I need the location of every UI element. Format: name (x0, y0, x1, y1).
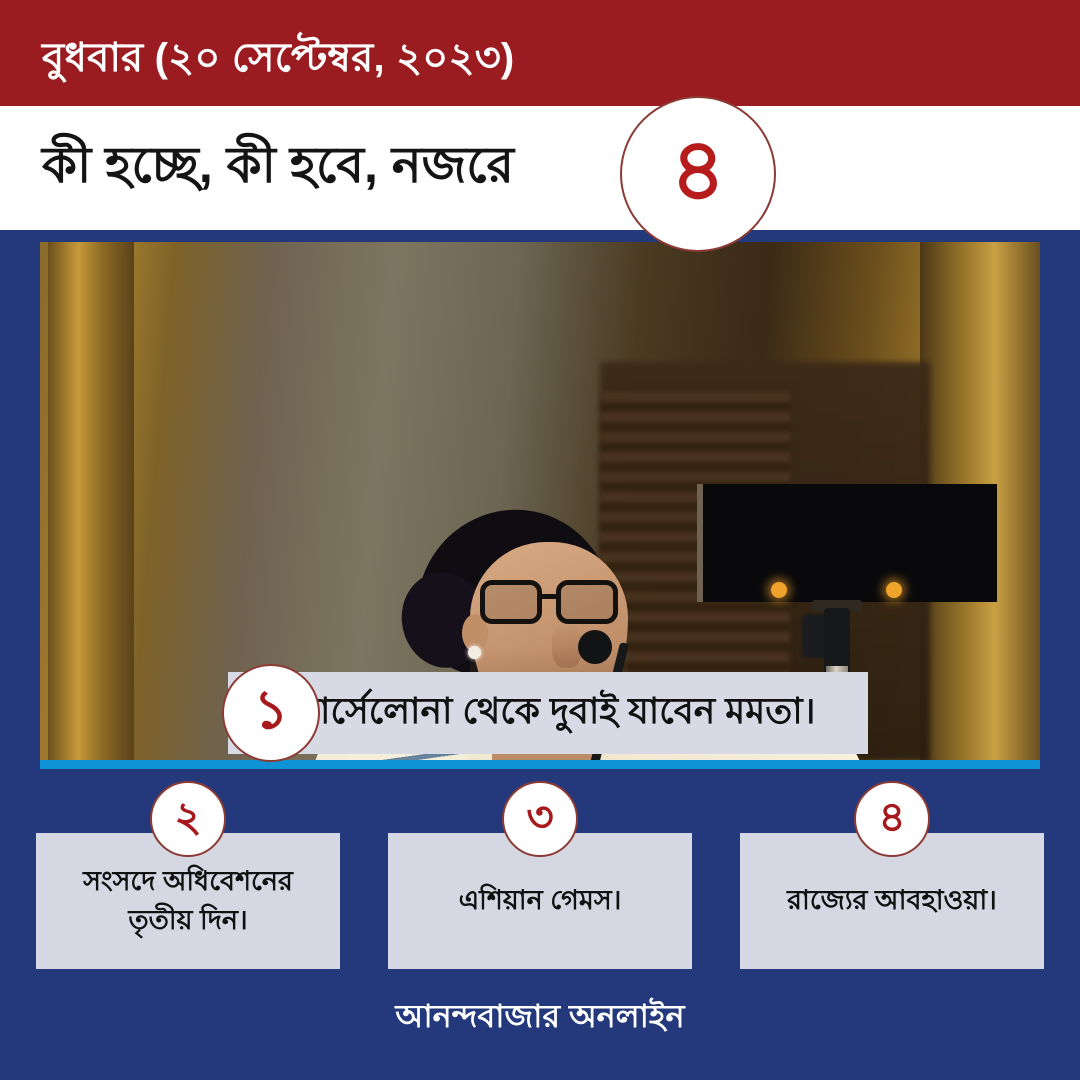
hero-caption-number-badge: ১ (222, 664, 320, 762)
infographic-card: বুধবার (২০ সেপ্টেম্বর, ২০২৩) কী হচ্ছে, ক… (0, 0, 1080, 1080)
photo-eyeglasses (480, 580, 632, 624)
header-count-badge: ৪ (620, 96, 776, 252)
cyan-divider-rule (40, 760, 1040, 769)
item-card-list: সংসদে অধিবেশনের তৃতীয় দিন। ২ এশিয়ান গে… (0, 833, 1080, 969)
photo-lens-right (556, 580, 618, 624)
item-number-label: ২ (174, 796, 201, 838)
item-card-text: রাজ্যের আবহাওয়া। (787, 881, 997, 920)
item-number-label: ৩ (526, 796, 553, 838)
item-number-badge: ৩ (502, 781, 578, 857)
item-card-text: সংসদে অধিবেশনের তৃতীয় দিন। (50, 862, 326, 940)
photo-lens-left (480, 580, 542, 624)
item-card-text: এশিয়ান গেমস। (459, 881, 622, 920)
photo-indicator-light-right (886, 582, 902, 598)
date-text: বুধবার (২০ সেপ্টেম্বর, ২০২৩) (42, 26, 514, 93)
photo-pillar-left (48, 242, 134, 760)
brand-footer: আনন্দবাজার অনলাইন (0, 992, 1080, 1044)
photo-earring (468, 646, 481, 659)
photo-indicator-light-left (771, 582, 787, 598)
item-number-label: ৪ (878, 796, 905, 838)
hero-caption-number-label: ১ (253, 683, 288, 737)
photo-display-screen (697, 484, 997, 602)
item-number-badge: ৪ (854, 781, 930, 857)
photo-microphone-head (578, 630, 612, 664)
header-count-badge-label: ৪ (670, 127, 726, 213)
hero-caption-text: বার্সেলোনা থেকে দুবাই যাবেন মমতা। (300, 684, 875, 744)
page-title: কী হচ্ছে, কী হবে, নজরে (42, 128, 514, 211)
item-number-badge: ২ (150, 781, 226, 857)
photo-glasses-bridge (542, 594, 558, 599)
